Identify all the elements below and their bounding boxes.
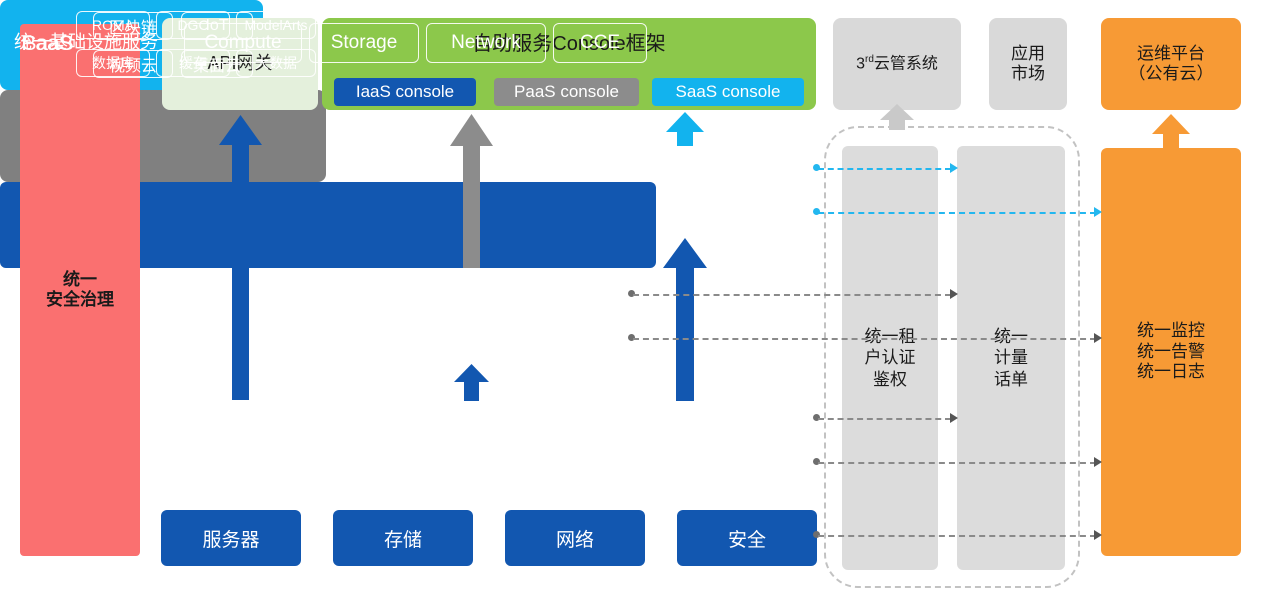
resource-box-storage[interactable]: 存储 [333, 510, 473, 566]
unified-metering-label: 统一计量话单 [994, 326, 1028, 390]
arrowhead-saas-to-metering [950, 163, 958, 173]
third-party-cloud-mgmt-label: 3rd云管系统 [856, 54, 938, 74]
ops-platform-label: 运维平台（公有云） [1129, 44, 1214, 85]
arrow-infra-to-saas [663, 238, 707, 401]
ops-platform-body-box: 统一监控统一告警统一日志 [1101, 148, 1241, 556]
infra-item-network[interactable]: Network [426, 23, 546, 63]
infra-item-cce[interactable]: CCE [553, 23, 647, 63]
arrow-saas-to-console [666, 112, 704, 146]
third-party-cloud-mgmt-box: 3rd云管系统 [833, 18, 961, 110]
dashed-link-saas-to-metering [818, 168, 951, 170]
dashed-link-infra-to-metering [818, 418, 951, 420]
saas-console-button[interactable]: SaaS console [652, 78, 804, 106]
arrowhead-infra-to-ops [1094, 457, 1102, 467]
app-market-label: 应用市场 [1011, 44, 1045, 85]
dashed-link-infra-to-ops [818, 462, 1096, 464]
iaas-console-button[interactable]: IaaS console [334, 78, 476, 106]
ops-platform-body-label: 统一监控统一告警统一日志 [1137, 321, 1205, 382]
resource-box-security[interactable]: 安全 [677, 510, 817, 566]
resource-box-server[interactable]: 服务器 [161, 510, 301, 566]
app-market-box: 应用市场 [989, 18, 1067, 110]
ops-platform-public-cloud-box: 运维平台（公有云） [1101, 18, 1241, 110]
infra-item-compute[interactable]: Compute [184, 23, 302, 63]
architecture-diagram: 统一安全治理 API网关 自助服务Console框架 IaaS console … [0, 0, 1265, 605]
arrow-infra-to-paas [454, 364, 489, 401]
paas-console-button[interactable]: PaaS console [494, 78, 639, 106]
security-governance-panel: 统一安全治理 [20, 24, 140, 556]
arrowhead-resources-to-ops [1094, 530, 1102, 540]
security-governance-label: 统一安全治理 [46, 270, 114, 311]
infra-item-storage[interactable]: Storage [309, 23, 419, 63]
unified-tenant-auth-label: 统一租户认证鉴权 [865, 326, 916, 390]
arrowhead-paas-to-ops [1094, 333, 1102, 343]
arrowhead-infra-to-metering [950, 413, 958, 423]
dashed-link-saas-to-ops [818, 212, 1096, 214]
unified-tenant-auth-column: 统一租户认证鉴权 [842, 146, 938, 570]
dashed-link-paas-to-ops [633, 338, 1096, 340]
arrowhead-paas-to-metering [950, 289, 958, 299]
unified-metering-column: 统一计量话单 [957, 146, 1065, 570]
dashed-link-paas-to-metering [633, 294, 951, 296]
resource-box-network[interactable]: 网络 [505, 510, 645, 566]
arrowhead-saas-to-ops [1094, 207, 1102, 217]
unified-infrastructure-label: 统一基础设施服务 [14, 28, 158, 54]
dashed-link-resources-to-ops [818, 535, 1096, 537]
arrow-ops-body-to-top [1152, 114, 1190, 150]
